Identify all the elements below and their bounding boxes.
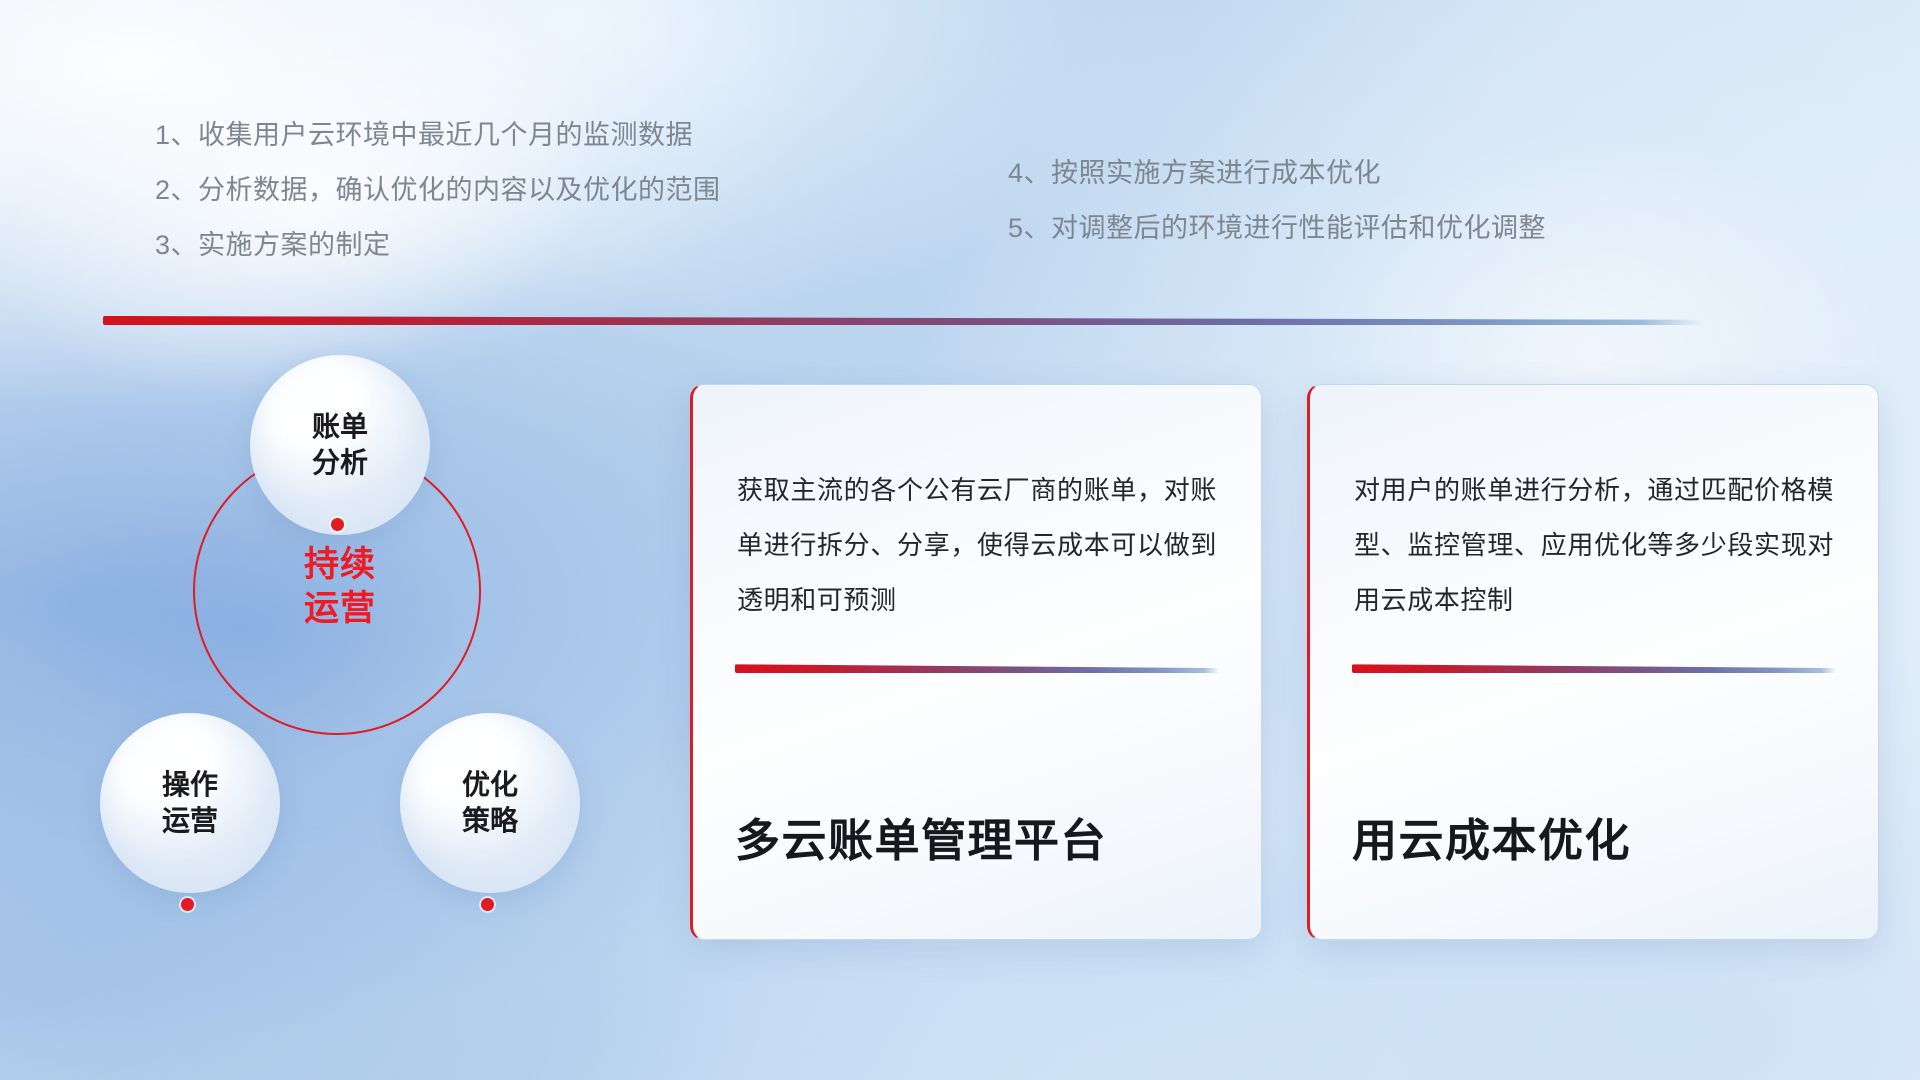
- list-item: 4、按照实施方案进行成本优化: [1008, 160, 1546, 187]
- slide-canvas: 1、收集用户云环境中最近几个月的监测数据 2、分析数据，确认优化的内容以及优化的…: [0, 0, 1920, 1080]
- venn-bubble-bottom-left[interactable]: 操作 运营: [100, 713, 280, 893]
- steps-list-right: 4、按照实施方案进行成本优化 5、对调整后的环境进行性能评估和优化调整: [1008, 160, 1546, 270]
- venn-bubble-top-line2: 分析: [312, 445, 368, 481]
- venn-bubble-bottom-right-line2: 策略: [462, 803, 518, 839]
- venn-diagram: 持续 运营 账单 分析 操作 运营 优化 策略: [100, 355, 640, 935]
- feature-card-title: 多云账单管理平台: [693, 816, 1261, 940]
- feature-card-title: 用云成本优化: [1310, 816, 1878, 940]
- venn-center-label-line2: 运营: [265, 587, 415, 631]
- feature-card-body: 对用户的账单进行分析，通过匹配价格模型、监控管理、应用优化等多少段实现对用云成本…: [1310, 385, 1878, 628]
- venn-node-dot-bottom-left: [181, 898, 194, 911]
- venn-bubble-bottom-right-text: 优化 策略: [462, 767, 518, 839]
- header-divider-rule: [103, 316, 1703, 325]
- list-item: 5、对调整后的环境进行性能评估和优化调整: [1008, 215, 1546, 242]
- feature-card-cloud-cost-optimization[interactable]: 对用户的账单进行分析，通过匹配价格模型、监控管理、应用优化等多少段实现对用云成本…: [1307, 384, 1879, 940]
- venn-bubble-bottom-right-line1: 优化: [462, 767, 518, 803]
- venn-center-label-line1: 持续: [265, 543, 415, 587]
- venn-bubble-top-line1: 账单: [312, 409, 368, 445]
- feature-card-multicloud-billing[interactable]: 获取主流的各个公有云厂商的账单，对账单进行拆分、分享，使得云成本可以做到透明和可…: [690, 384, 1262, 940]
- feature-card-divider: [735, 664, 1219, 673]
- venn-bubble-bottom-left-line2: 运营: [162, 803, 218, 839]
- venn-node-dot-bottom-right: [481, 898, 494, 911]
- steps-list-left: 1、收集用户云环境中最近几个月的监测数据 2、分析数据，确认优化的内容以及优化的…: [155, 122, 721, 287]
- venn-bubble-bottom-right[interactable]: 优化 策略: [400, 713, 580, 893]
- venn-node-dot-top: [331, 518, 344, 531]
- venn-bubble-top-text: 账单 分析: [312, 409, 368, 481]
- list-item: 2、分析数据，确认优化的内容以及优化的范围: [155, 177, 721, 204]
- venn-bubble-bottom-left-text: 操作 运营: [162, 767, 218, 839]
- list-item: 1、收集用户云环境中最近几个月的监测数据: [155, 122, 721, 149]
- feature-card-body: 获取主流的各个公有云厂商的账单，对账单进行拆分、分享，使得云成本可以做到透明和可…: [693, 385, 1261, 628]
- venn-bubble-bottom-left-line1: 操作: [162, 767, 218, 803]
- list-item: 3、实施方案的制定: [155, 232, 721, 259]
- feature-card-divider: [1352, 664, 1836, 673]
- venn-bubble-top[interactable]: 账单 分析: [250, 355, 430, 535]
- venn-center-label: 持续 运营: [265, 543, 415, 631]
